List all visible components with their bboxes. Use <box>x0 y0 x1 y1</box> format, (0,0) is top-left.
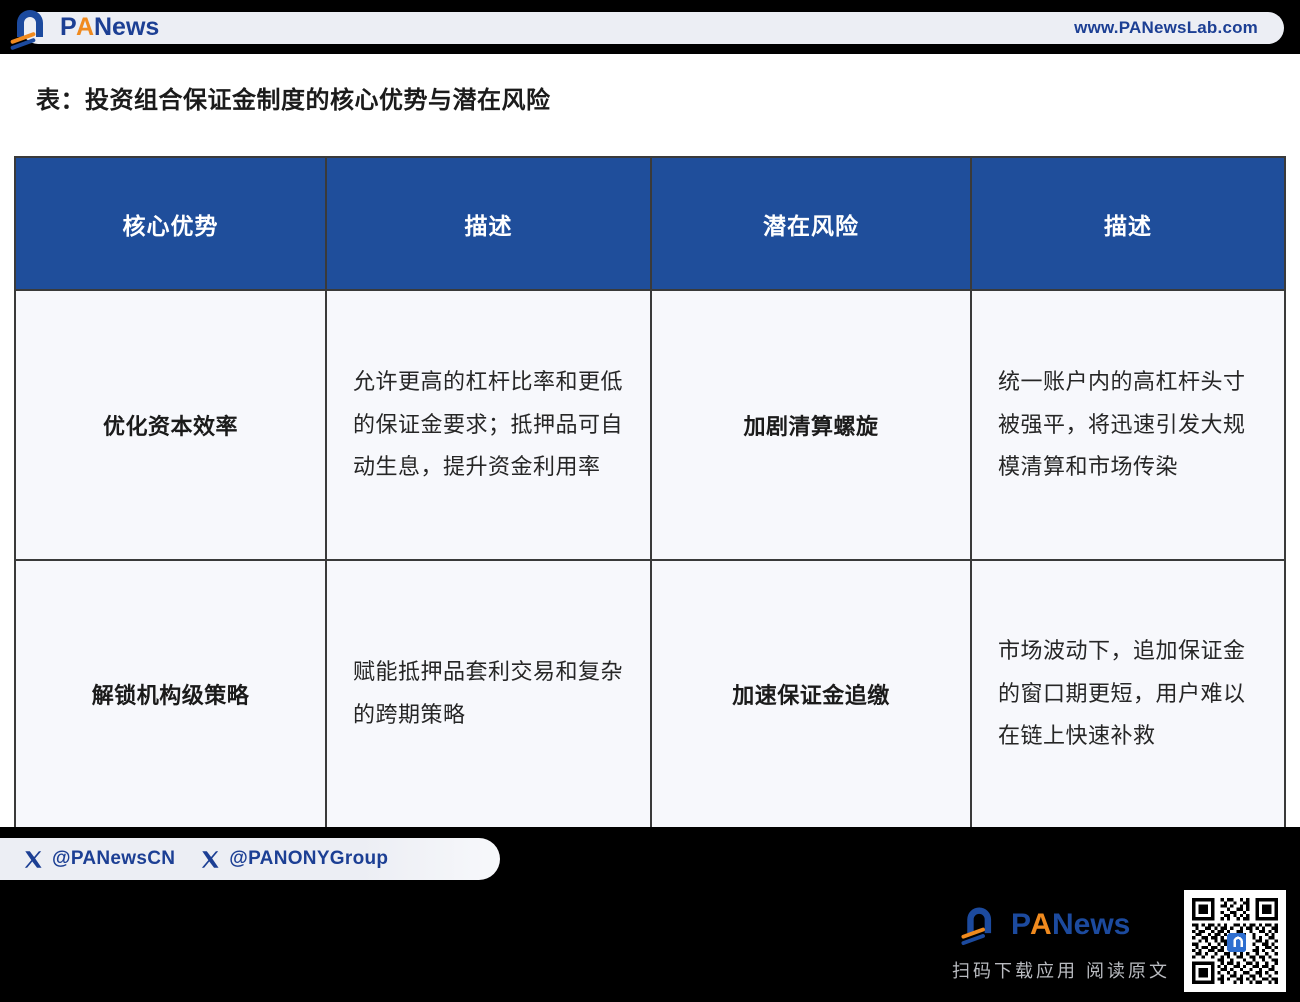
top-header-bar: P A News www.PANewsLab.com <box>0 0 1300 54</box>
svg-text:P: P <box>1011 908 1031 941</box>
column-header-advantage-desc: 描述 <box>326 157 651 290</box>
svg-text:A: A <box>1030 908 1052 941</box>
column-header-risk-desc: 描述 <box>971 157 1285 290</box>
svg-text:P: P <box>60 13 77 41</box>
x-twitter-icon <box>24 850 43 869</box>
site-url[interactable]: www.PANewsLab.com <box>1074 12 1258 44</box>
panews-wordmark: P A News <box>60 11 202 43</box>
panews-arch-logo-icon <box>8 3 56 51</box>
x-twitter-icon <box>201 850 220 869</box>
panews-wordmark: P A News <box>1011 907 1163 946</box>
poster-root: P A News www.PANewsLab.com PANews 表：投资组合… <box>0 0 1300 1002</box>
comparison-table: 核心优势 描述 潜在风险 描述 优化资本效率 允许更高的杠杆比率和更低的保证金要… <box>14 156 1286 827</box>
social-handle-label: @PANewsCN <box>52 848 175 870</box>
qr-code-icon[interactable] <box>1184 890 1286 992</box>
table-row: 优化资本效率 允许更高的杠杆比率和更低的保证金要求；抵押品可自动生息，提升资金利… <box>15 290 1285 560</box>
bottom-brand-block: P A News 扫码下载应用 阅读原文 <box>952 890 1286 992</box>
cell-risk-1: 加剧清算螺旋 <box>651 290 971 560</box>
comparison-table-wrapper: 核心优势 描述 潜在风险 描述 优化资本效率 允许更高的杠杆比率和更低的保证金要… <box>14 156 1286 827</box>
social-handle-label: @PANONYGroup <box>229 848 388 870</box>
table-header-row: 核心优势 描述 潜在风险 描述 <box>15 157 1285 290</box>
cell-risk-desc-1: 统一账户内的高杠杆头寸被强平，将迅速引发大规模清算和市场传染 <box>971 290 1285 560</box>
svg-text:A: A <box>76 13 94 41</box>
table-header: 核心优势 描述 潜在风险 描述 <box>15 157 1285 290</box>
social-link-panonygroup[interactable]: @PANONYGroup <box>201 848 388 870</box>
column-header-advantage: 核心优势 <box>15 157 326 290</box>
cell-advantage-desc-2: 赋能抵押品套利交易和复杂的跨期策略 <box>326 560 651 827</box>
page-title: 表：投资组合保证金制度的核心优势与潜在风险 <box>36 80 551 115</box>
cell-advantage-1: 优化资本效率 <box>15 290 326 560</box>
download-cta-label: 扫码下载应用 阅读原文 <box>952 957 1170 983</box>
cell-advantage-desc-1: 允许更高的杠杆比率和更低的保证金要求；抵押品可自动生息，提升资金利用率 <box>326 290 651 560</box>
content-sheet: PANews 表：投资组合保证金制度的核心优势与潜在风险 核心优势 描述 潜在风… <box>0 54 1300 827</box>
table-row: 解锁机构级策略 赋能抵押品套利交易和复杂的跨期策略 加速保证金追缴 市场波动下，… <box>15 560 1285 827</box>
social-link-panewscn[interactable]: @PANewsCN <box>24 848 175 870</box>
brand-left-group: P A News 扫码下载应用 阅读原文 <box>952 900 1170 983</box>
cell-advantage-2: 解锁机构级策略 <box>15 560 326 827</box>
brand-logo-row: P A News <box>959 900 1163 953</box>
cell-risk-desc-2: 市场波动下，追加保证金的窗口期更短，用户难以在链上快速补救 <box>971 560 1285 827</box>
panews-arch-logo-icon <box>959 900 1003 953</box>
table-body: 优化资本效率 允许更高的杠杆比率和更低的保证金要求；抵押品可自动生息，提升资金利… <box>15 290 1285 827</box>
svg-text:News: News <box>1052 908 1130 941</box>
svg-text:News: News <box>94 13 159 41</box>
cell-risk-2: 加速保证金追缴 <box>651 560 971 827</box>
social-footer-bar: @PANewsCN @PANONYGroup <box>0 838 500 880</box>
column-header-risk: 潜在风险 <box>651 157 971 290</box>
